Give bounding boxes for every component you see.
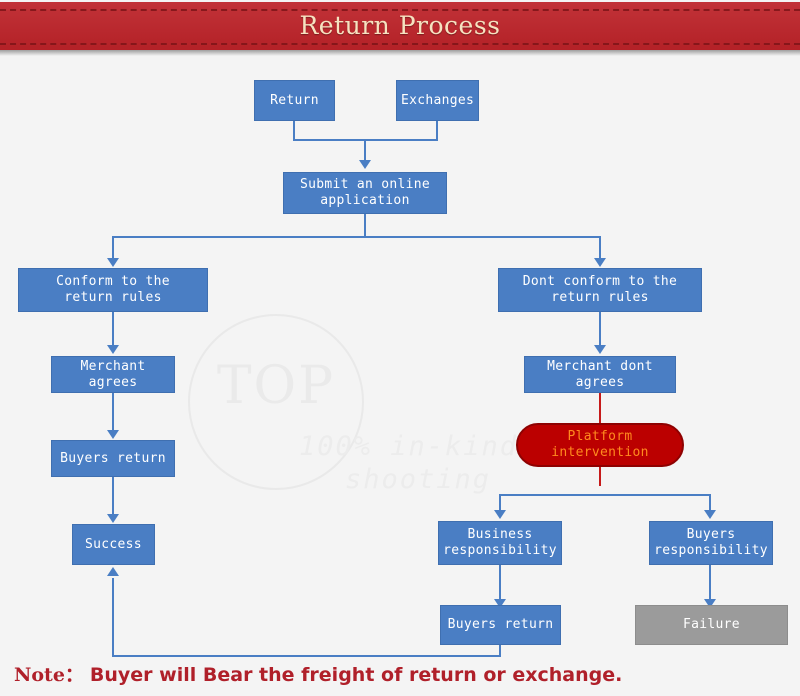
node-conform-rules[interactable]: Conform to the return rules [18,268,208,312]
node-merchant-agrees[interactable]: Merchant agrees [51,356,175,393]
connector-return-stem [293,121,295,141]
arrowhead-to-buyers-return-left [107,430,119,439]
connector-split-bar [112,236,601,238]
node-return[interactable]: Return [254,80,335,121]
connector-split-left [112,236,114,260]
footer-note: Note：Buyer will Bear the freight of retu… [14,660,622,687]
return-process-infographic: Return Process TOP 100% in-kind shooting… [0,0,800,696]
node-buyers-return-left[interactable]: Buyers return [51,440,175,477]
arrowhead-to-dont-conform [594,258,606,267]
arrowhead-to-buyers-responsibility [704,510,716,519]
arrowhead-to-conform [107,258,119,267]
node-failure[interactable]: Failure [635,605,788,645]
connector-loop-horizontal [112,655,501,657]
node-buyers-return-right[interactable]: Buyers return [440,605,561,645]
node-submit-application[interactable]: Submit an online application [283,172,447,214]
connector-merchant-to-buyers-return [112,393,114,434]
node-platform-intervention[interactable]: Platform intervention [516,423,684,467]
arrowhead-to-merchant-dont-agrees [594,345,606,354]
node-success[interactable]: Success [72,524,155,565]
connector-loop-up [112,578,114,656]
node-exchanges[interactable]: Exchanges [396,80,479,121]
note-label: Note： [14,664,84,686]
arrowhead-to-merchant-agrees [107,345,119,354]
arrowhead-loop-to-success [107,567,119,576]
connector-split-right [599,236,601,260]
connector-buyers-return-to-success [112,477,114,518]
connector-merge-to-submit [364,139,366,162]
connector-dont-conform-to-merchant [599,312,601,348]
connector-platform-split-bar [499,494,711,496]
connector-submit-stem [364,214,366,238]
flowchart: Return Exchanges Submit an online applic… [0,0,800,696]
connector-conform-to-merchant [112,312,114,348]
node-buyers-responsibility[interactable]: Buyers responsibility [649,521,773,565]
arrowhead-to-business-responsibility [494,510,506,519]
connector-business-to-buyers-return [499,565,501,603]
connector-exchanges-stem [436,121,438,141]
note-text: Buyer will Bear the freight of return or… [90,664,622,686]
connector-buyers-resp-to-failure [709,565,711,603]
node-business-responsibility[interactable]: Business responsibility [438,521,562,565]
node-dont-conform-rules[interactable]: Dont conform to the return rules [498,268,702,312]
arrowhead-to-submit [359,160,371,169]
arrowhead-to-success [107,514,119,523]
node-merchant-dont-agrees[interactable]: Merchant dont agrees [524,356,676,393]
